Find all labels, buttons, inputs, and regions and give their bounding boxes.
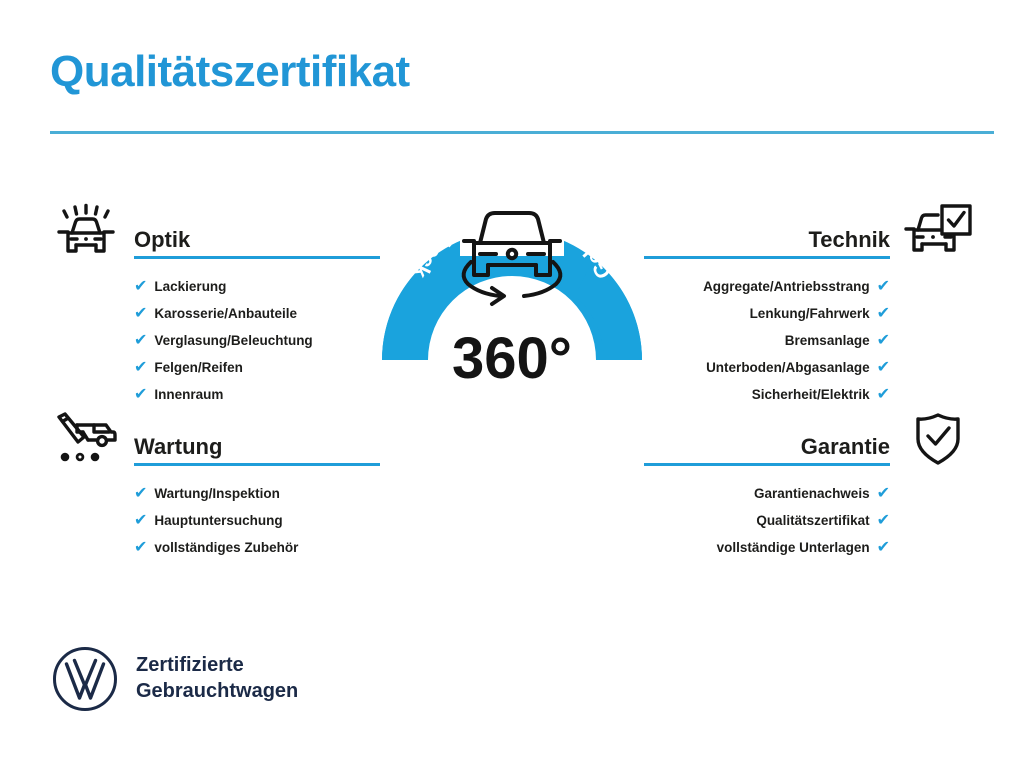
list-item: Sicherheit/Elektrik ✔ [604,381,974,408]
section-optik-title: Optik [134,227,190,253]
list-item: ✔ Verglasung/Beleuchtung [50,327,420,354]
check-icon: ✔ [877,360,890,376]
page-title: Qualitätszertifikat [50,48,410,96]
section-garantie-header: Garantie [604,412,974,474]
list-item: Qualitätszertifikat ✔ [604,507,974,534]
badge-center-label: 360° [452,326,572,391]
footer-branding: Zertifizierte Gebrauchtwagen [52,646,298,712]
check-icon: ✔ [134,540,147,556]
list-item: ✔ Karosserie/Anbauteile [50,300,420,327]
check-icon: ✔ [877,333,890,349]
section-wartung-underline [134,463,380,466]
list-item-label: Lackierung [154,280,226,294]
list-item: Bremsanlage ✔ [604,327,974,354]
section-garantie-underline [644,463,890,466]
footer-line-2: Gebrauchtwagen [136,679,298,705]
check-icon: ✔ [877,486,890,502]
check-icon: ✔ [134,486,147,502]
section-optik: Optik ✔ Lackierung ✔ Karosserie/Anbautei… [50,205,420,408]
footer-text: Zertifizierte Gebrauchtwagen [136,653,298,704]
list-item: Lenkung/Fahrwerk ✔ [604,300,974,327]
list-item-label: Hauptuntersuchung [154,514,282,528]
section-wartung-title: Wartung [134,434,222,460]
list-item-label: Verglasung/Beleuchtung [154,334,312,348]
list-item: ✔ Lackierung [50,273,420,300]
list-item-label: Unterboden/Abgasanlage [706,361,870,375]
section-wartung-list: ✔ Wartung/Inspektion ✔ Hauptuntersuchung… [50,480,420,561]
section-optik-header: Optik [50,205,420,267]
check-icon: ✔ [877,306,890,322]
shield-check-icon [902,410,974,468]
list-item-label: Garantienachweis [754,487,870,501]
check-icon: ✔ [877,513,890,529]
section-technik-underline [644,256,890,259]
section-optik-underline [134,256,380,259]
car-front-shine-icon [50,203,122,261]
certificate-page: Qualitätszertifikat [0,0,1024,768]
list-item: ✔ Innenraum [50,381,420,408]
list-item-label: Aggregate/Antriebsstrang [703,280,870,294]
list-item-label: Innenraum [154,388,223,402]
check-icon: ✔ [877,387,890,403]
check-icon: ✔ [134,279,147,295]
list-item: ✔ Felgen/Reifen [50,354,420,381]
check-icon: ✔ [134,360,147,376]
list-item: Garantienachweis ✔ [604,480,974,507]
list-item: vollständige Unterlagen ✔ [604,534,974,561]
list-item-label: Wartung/Inspektion [154,487,280,501]
section-wartung-header: Wartung [50,412,420,474]
check-icon: ✔ [877,540,890,556]
footer-line-1: Zertifizierte [136,653,298,679]
section-technik-header: Technik [604,205,974,267]
list-item-label: vollständige Unterlagen [717,541,870,555]
section-technik: Technik Aggregate/Antriebsstrang ✔ Lenku… [604,205,974,408]
car-front-checkbox-icon [902,203,974,261]
check-icon: ✔ [134,513,147,529]
section-wartung: Wartung ✔ Wartung/Inspektion ✔ Hauptunte… [50,412,420,561]
section-optik-list: ✔ Lackierung ✔ Karosserie/Anbauteile ✔ V… [50,273,420,408]
list-item: Aggregate/Antriebsstrang ✔ [604,273,974,300]
badge-360-gebrauchtwagen-check: Gebrauchtwagen-Check 360° [374,196,650,486]
list-item-label: Felgen/Reifen [154,361,243,375]
section-garantie-title: Garantie [801,434,890,460]
list-item: ✔ Hauptuntersuchung [50,507,420,534]
check-icon: ✔ [134,387,147,403]
section-technik-title: Technik [808,227,890,253]
list-item-label: Qualitätszertifikat [756,514,869,528]
list-item: Unterboden/Abgasanlage ✔ [604,354,974,381]
list-item-label: Lenkung/Fahrwerk [750,307,870,321]
check-icon: ✔ [134,333,147,349]
volkswagen-logo [52,646,118,712]
list-item: ✔ vollständiges Zubehör [50,534,420,561]
check-icon: ✔ [134,306,147,322]
section-garantie: Garantie Garantienachweis ✔ Qualitätszer… [604,412,974,561]
list-item-label: Karosserie/Anbauteile [154,307,297,321]
car-service-wrench-icon [50,410,122,468]
section-garantie-list: Garantienachweis ✔ Qualitätszertifikat ✔… [604,480,974,561]
title-divider [50,131,994,134]
list-item-label: vollständiges Zubehör [154,541,298,555]
list-item: ✔ Wartung/Inspektion [50,480,420,507]
list-item-label: Sicherheit/Elektrik [752,388,870,402]
list-item-label: Bremsanlage [785,334,870,348]
check-icon: ✔ [877,279,890,295]
section-technik-list: Aggregate/Antriebsstrang ✔ Lenkung/Fahrw… [604,273,974,408]
